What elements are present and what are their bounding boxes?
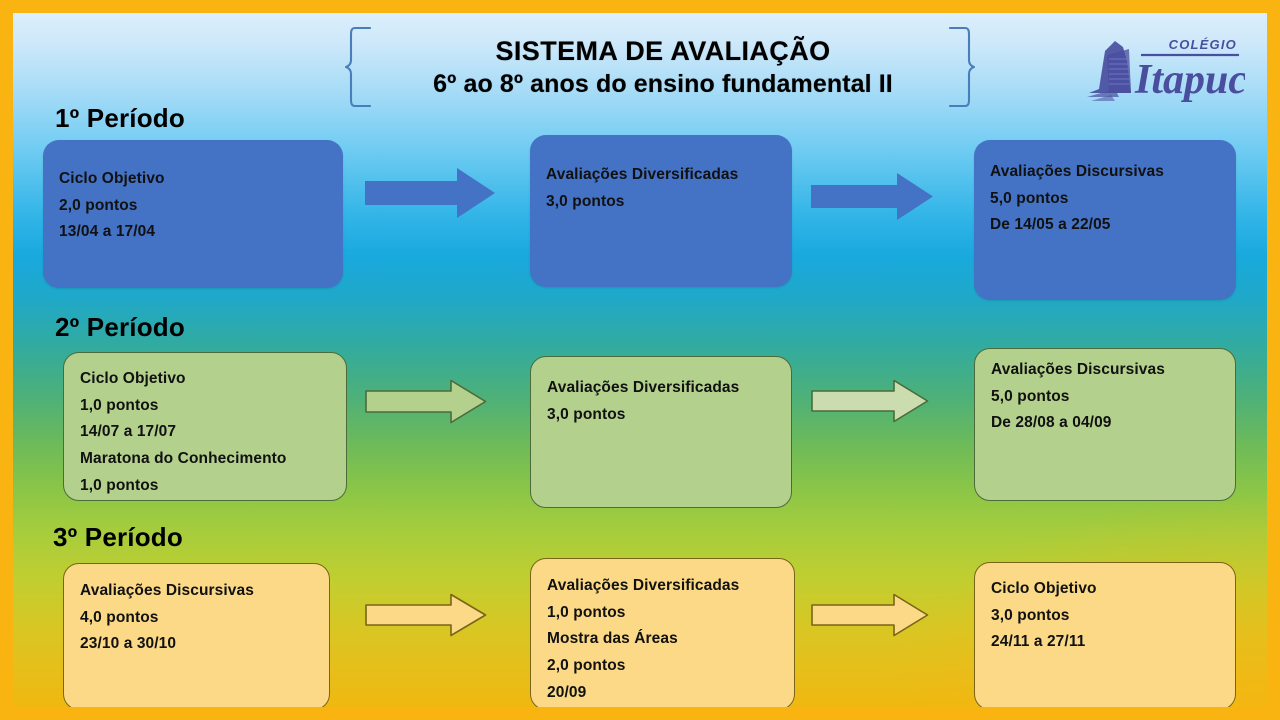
step-box-p2-s2[interactable]: Avaliações Diversificadas 3,0 pontos xyxy=(530,356,792,508)
flow-arrow-p2-a1 xyxy=(365,379,487,424)
step-box-text: Avaliações Diversificadas 3,0 pontos xyxy=(531,375,791,428)
step-line: 5,0 pontos xyxy=(990,186,1220,213)
step-line: Avaliações Discursivas xyxy=(990,159,1220,186)
step-line: 13/04 a 17/04 xyxy=(59,219,327,246)
step-box-text: Avaliações Discursivas 5,0 pontos De 28/… xyxy=(975,357,1235,437)
step-line: 5,0 pontos xyxy=(991,384,1219,411)
step-line: De 14/05 a 22/05 xyxy=(990,212,1220,239)
step-line: Avaliações Diversificadas xyxy=(547,573,778,600)
step-line: Mostra das Áreas xyxy=(547,626,778,653)
step-line: Avaliações Discursivas xyxy=(991,357,1219,384)
step-line: Ciclo Objetivo xyxy=(80,366,330,393)
header: SISTEMA DE AVALIAÇÃO 6º ao 8º anos do en… xyxy=(343,25,983,109)
title-line-secondary: 6º ao 8º anos do ensino fundamental II xyxy=(433,70,893,98)
step-box-text: Ciclo Objetivo 1,0 pontos 14/07 a 17/07 … xyxy=(64,366,346,499)
step-box-text: Ciclo Objetivo 3,0 pontos 24/11 a 27/11 xyxy=(975,576,1235,656)
right-curly-brace-icon xyxy=(949,26,975,108)
step-box-p2-s3[interactable]: Avaliações Discursivas 5,0 pontos De 28/… xyxy=(974,348,1236,501)
step-line: Maratona do Conhecimento xyxy=(80,446,330,473)
flow-arrow-p3-a1 xyxy=(365,593,487,637)
step-line: 2,0 pontos xyxy=(59,193,327,220)
step-box-p3-s1[interactable]: Avaliações Discursivas 4,0 pontos 23/10 … xyxy=(63,563,330,707)
page-title: SISTEMA DE AVALIAÇÃO 6º ao 8º anos do en… xyxy=(433,36,893,97)
flow-arrow-p2-a2 xyxy=(811,379,929,423)
step-box-text: Avaliações Discursivas 4,0 pontos 23/10 … xyxy=(64,578,329,658)
step-box-p3-s2[interactable]: Avaliações Diversificadas 1,0 pontos Mos… xyxy=(530,558,795,707)
logo-brand-top: COLÉGIO xyxy=(1169,37,1237,52)
slide-canvas: SISTEMA DE AVALIAÇÃO 6º ao 8º anos do en… xyxy=(13,13,1267,707)
step-box-p1-s2[interactable]: Avaliações Diversificadas 3,0 pontos xyxy=(530,135,792,287)
step-box-text: Avaliações Diversificadas 1,0 pontos Mos… xyxy=(531,573,794,706)
logo-brand-main: Itapuca xyxy=(1134,57,1245,103)
step-line: 1,0 pontos xyxy=(80,393,330,420)
step-line: Avaliações Diversificadas xyxy=(547,375,775,402)
period-label-2: 2º Período xyxy=(55,312,185,343)
step-line: 14/07 a 17/07 xyxy=(80,419,330,446)
step-box-p1-s3[interactable]: Avaliações Discursivas 5,0 pontos De 14/… xyxy=(974,140,1236,300)
step-box-text: Avaliações Discursivas 5,0 pontos De 14/… xyxy=(974,159,1236,239)
step-box-text: Ciclo Objetivo 2,0 pontos 13/04 a 17/04 xyxy=(43,166,343,246)
itapuca-rock-building-icon xyxy=(1087,41,1131,101)
step-box-p1-s1[interactable]: Ciclo Objetivo 2,0 pontos 13/04 a 17/04 xyxy=(43,140,343,288)
period-label-1: 1º Período xyxy=(55,103,185,134)
step-line: 3,0 pontos xyxy=(547,402,775,429)
step-line: Ciclo Objetivo xyxy=(59,166,327,193)
step-line: 3,0 pontos xyxy=(991,603,1219,630)
period-label-3: 3º Período xyxy=(53,522,183,553)
step-box-p2-s1[interactable]: Ciclo Objetivo 1,0 pontos 14/07 a 17/07 … xyxy=(63,352,347,501)
step-line: Ciclo Objetivo xyxy=(991,576,1219,603)
step-line: 4,0 pontos xyxy=(80,605,313,632)
step-line: 1,0 pontos xyxy=(547,600,778,627)
flow-arrow-p1-a2 xyxy=(811,173,933,220)
step-line: Avaliações Discursivas xyxy=(80,578,313,605)
step-line: De 28/08 a 04/09 xyxy=(991,410,1219,437)
step-line: 24/11 a 27/11 xyxy=(991,629,1219,656)
step-line: 23/10 a 30/10 xyxy=(80,631,313,658)
step-line: Avaliações Diversificadas xyxy=(546,162,776,189)
flow-arrow-p1-a1 xyxy=(365,168,495,218)
flow-arrow-p3-a2 xyxy=(811,593,929,637)
title-line-primary: SISTEMA DE AVALIAÇÃO xyxy=(433,36,893,66)
step-line: 1,0 pontos xyxy=(80,473,330,500)
step-box-p3-s3[interactable]: Ciclo Objetivo 3,0 pontos 24/11 a 27/11 xyxy=(974,562,1236,707)
step-line: 2,0 pontos xyxy=(547,653,778,680)
step-box-text: Avaliações Diversificadas 3,0 pontos xyxy=(530,162,792,215)
logo: COLÉGIO Itapuca xyxy=(1085,31,1245,109)
slide-root: SISTEMA DE AVALIAÇÃO 6º ao 8º anos do en… xyxy=(0,0,1280,720)
step-line: 3,0 pontos xyxy=(546,189,776,216)
step-line: 20/09 xyxy=(547,680,778,707)
